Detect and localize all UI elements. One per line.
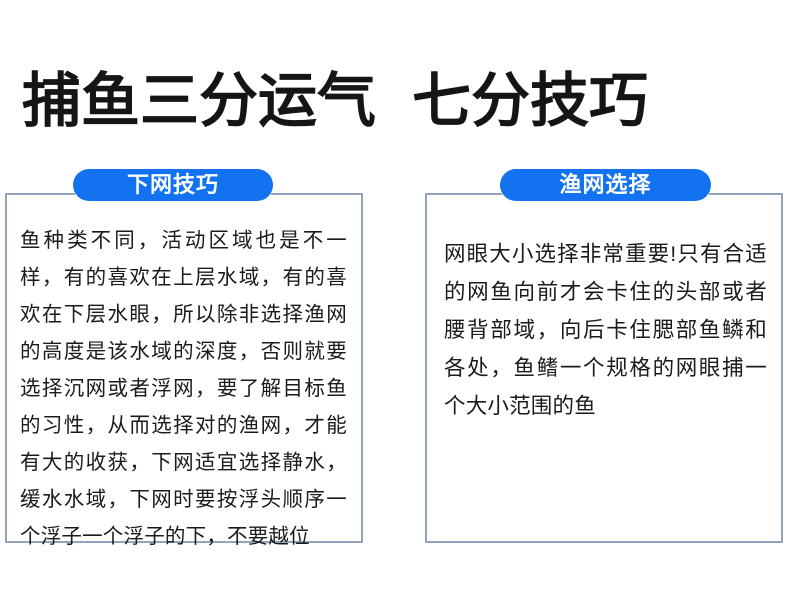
- card-yuwang-xuanze: 网眼大小选择非常重要!只有合适的网鱼向前才会卡住的头部或者腰背部域，向后卡住腮部…: [425, 193, 783, 543]
- card-left-paragraph: 鱼种类不同，活动区域也是不一样，有的喜欢在上层水域，有的喜欢在下层水眼，所以除非…: [20, 222, 347, 555]
- card-xiawang-jiqiao: 鱼种类不同，活动区域也是不一样，有的喜欢在上层水域，有的喜欢在下层水眼，所以除非…: [5, 193, 363, 543]
- card-body-left: 鱼种类不同，活动区域也是不一样，有的喜欢在上层水域，有的喜欢在下层水眼，所以除非…: [7, 195, 361, 555]
- card-right-paragraph: 网眼大小选择非常重要!只有合适的网鱼向前才会卡住的头部或者腰背部域，向后卡住腮部…: [444, 235, 767, 425]
- badge-yuwang-xuanze: 渔网选择: [500, 169, 711, 201]
- badge-label-right: 渔网选择: [559, 174, 651, 196]
- card-body-right: 网眼大小选择非常重要!只有合适的网鱼向前才会卡住的头部或者腰背部域，向后卡住腮部…: [427, 195, 781, 425]
- badge-xiawang-jiqiao: 下网技巧: [73, 169, 273, 201]
- cards-container: 鱼种类不同，活动区域也是不一样，有的喜欢在上层水域，有的喜欢在下层水眼，所以除非…: [0, 0, 790, 600]
- badge-label-left: 下网技巧: [127, 174, 219, 196]
